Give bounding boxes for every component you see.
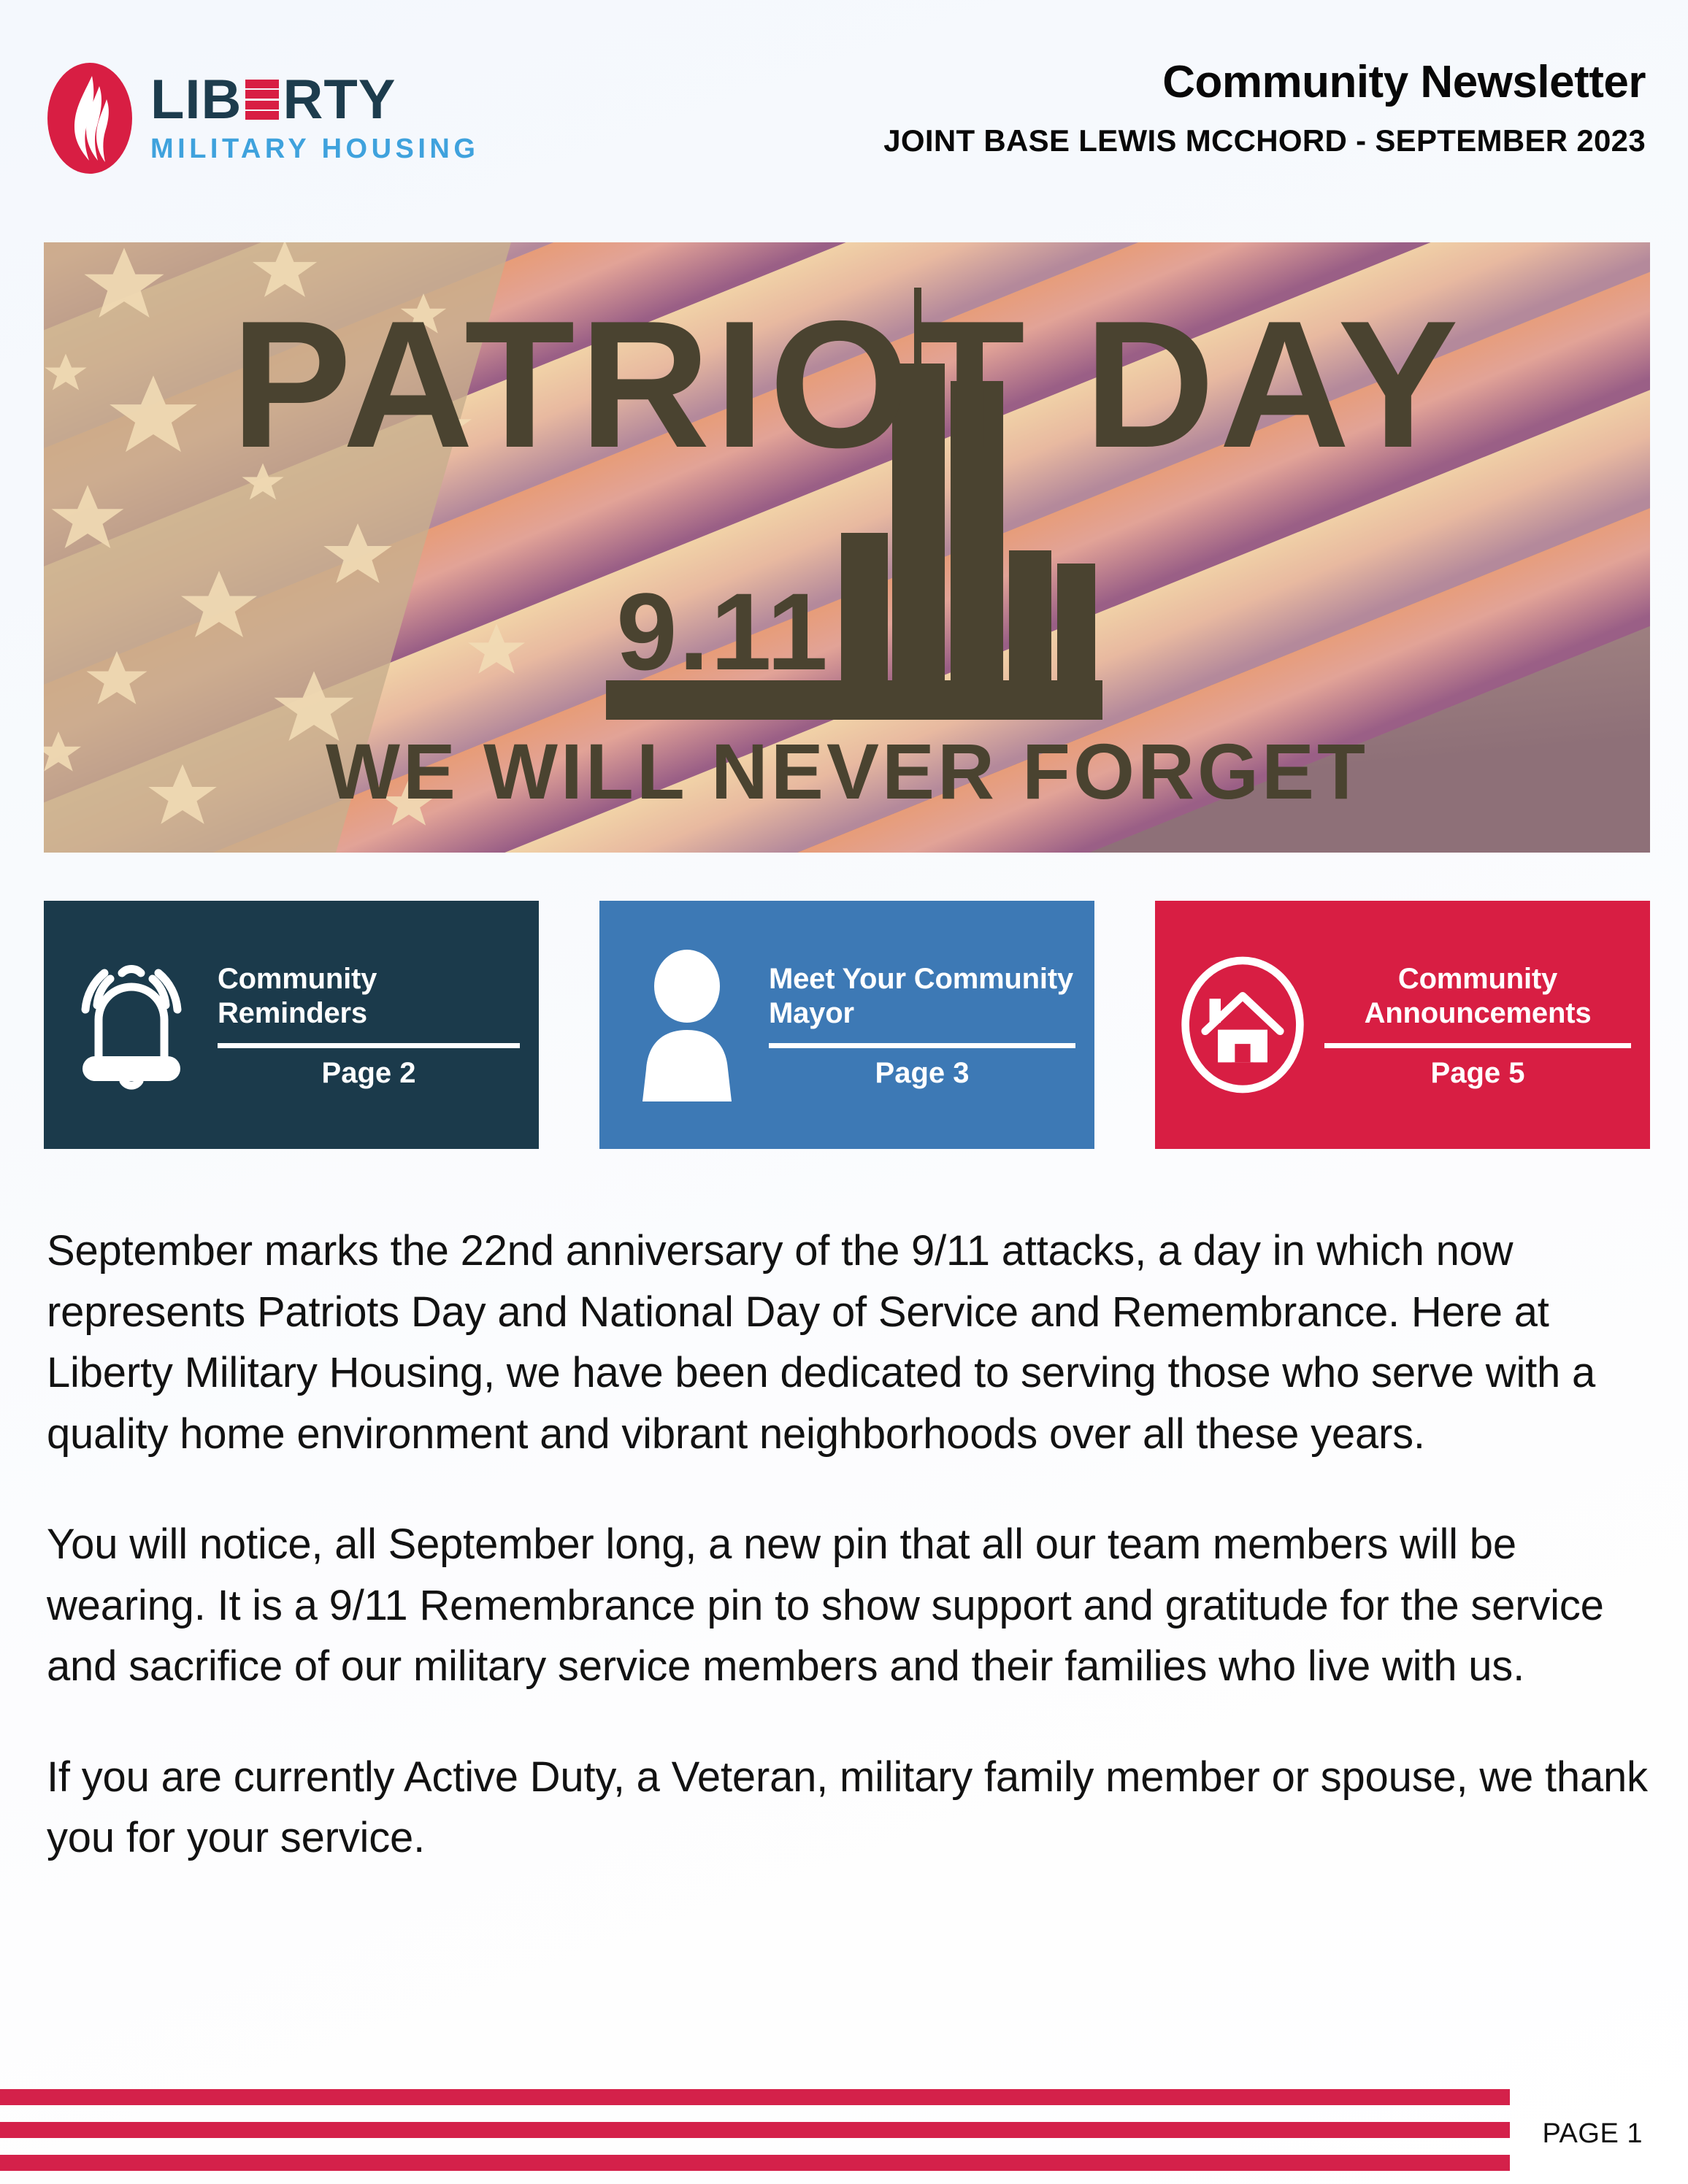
card-divider	[1324, 1043, 1631, 1048]
page-footer: PAGE 1	[0, 2060, 1688, 2184]
article-body: September marks the 22nd anniversary of …	[47, 1220, 1653, 1869]
card-page-label: Page 2	[218, 1058, 520, 1088]
logo-liberty-part1: LIB	[150, 72, 242, 128]
logo-striped-e-icon	[245, 80, 279, 120]
card-divider	[218, 1043, 520, 1048]
card-community-announcements[interactable]: Community Announcements Page 5	[1155, 901, 1650, 1149]
bell-ringing-icon	[66, 945, 197, 1105]
newsletter-subtitle: JOINT BASE LEWIS MCCHORD - SEPTEMBER 202…	[883, 126, 1646, 156]
page-number-label: PAGE 1	[1543, 2118, 1643, 2150]
banner-tagline-text: WE WILL NEVER FORGET	[326, 727, 1368, 815]
card-meet-your-community-mayor[interactable]: Meet Your Community Mayor Page 3	[599, 901, 1094, 1149]
newsletter-page: LIB RTY MILITARY HOUSING Community Newsl…	[0, 0, 1688, 2184]
card-title: Community Announcements	[1324, 962, 1631, 1030]
page-header: LIB RTY MILITARY HOUSING Community Newsl…	[0, 0, 1688, 219]
card-title: Meet Your Community Mayor	[769, 962, 1075, 1030]
article-paragraph-2: You will notice, all September long, a n…	[47, 1514, 1653, 1697]
liberty-military-housing-logo: LIB RTY MILITARY HOUSING	[45, 53, 498, 184]
section-nav-cards: Community Reminders Page 2 Meet Your Com…	[44, 901, 1650, 1149]
house-in-circle-icon	[1177, 945, 1308, 1105]
card-page-label: Page 3	[769, 1058, 1075, 1088]
flame-in-ellipse-logo-icon	[45, 60, 134, 177]
logo-subtitle: MILITARY HOUSING	[150, 134, 479, 165]
person-user-icon	[621, 945, 753, 1105]
patriot-day-banner: PATRIOT DAY 9.11 WE WILL NEVER FORGET	[44, 242, 1650, 853]
header-titles: Community Newsletter JOINT BASE LEWIS MC…	[883, 60, 1646, 156]
card-divider	[769, 1043, 1075, 1048]
article-paragraph-3: If you are currently Active Duty, a Vete…	[47, 1747, 1653, 1869]
card-community-reminders[interactable]: Community Reminders Page 2	[44, 901, 539, 1149]
logo-liberty-part2: RTY	[283, 72, 396, 128]
article-paragraph-1: September marks the 22nd anniversary of …	[47, 1220, 1653, 1464]
logo-wordmark: LIB RTY MILITARY HOUSING	[150, 72, 479, 165]
card-page-label: Page 5	[1324, 1058, 1631, 1088]
newsletter-title: Community Newsletter	[883, 60, 1646, 105]
card-title: Community Reminders	[218, 962, 520, 1030]
footer-stripes-decoration	[0, 2089, 1510, 2171]
banner-headline-text: PATRIOT DAY	[231, 282, 1462, 485]
banner-date-text: 9.11	[616, 570, 829, 693]
